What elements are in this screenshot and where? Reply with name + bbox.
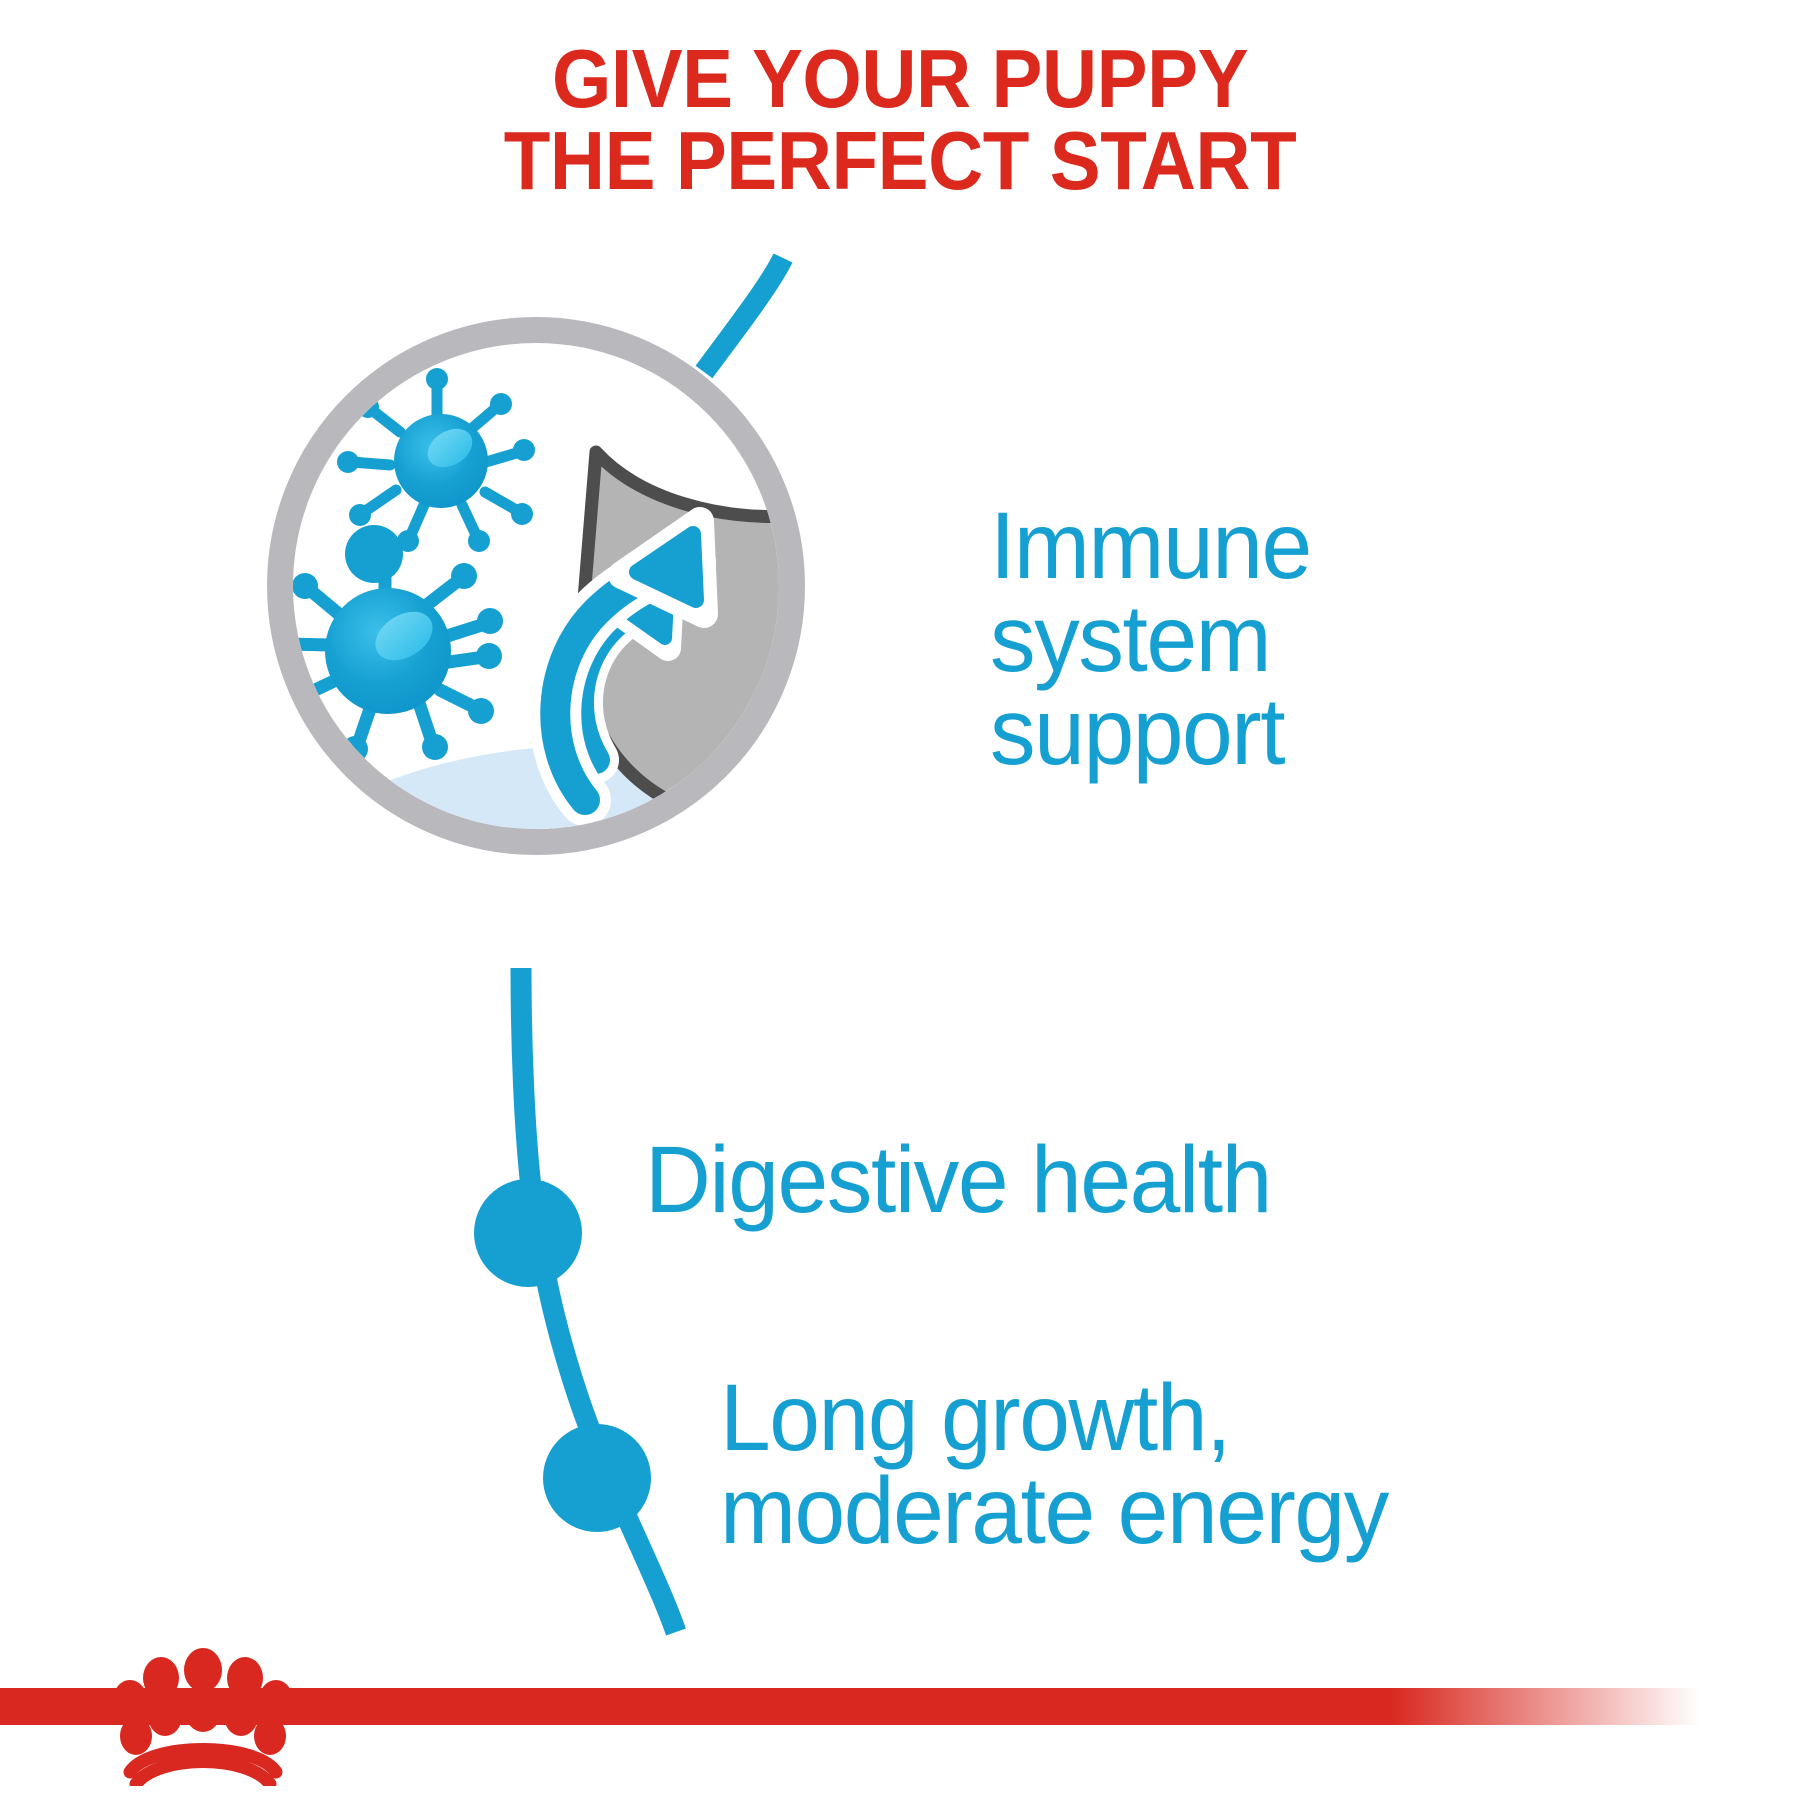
crown-dots [113,1648,293,1755]
connector-segment-3 [625,1513,676,1632]
node-dot-growth[interactable] [543,1424,651,1532]
crown-arcs [130,1750,276,1785]
connector-segment-1 [521,968,532,1196]
poster-canvas: GIVE YOUR PUPPY THE PERFECT START [0,0,1800,1800]
benefit-label-immune: Immune system support [990,500,1311,779]
royal-canin-crown-logo [108,1648,298,1786]
connector-segment-2 [545,1272,594,1440]
benefit-label-digestive: Digestive health [645,1132,1271,1229]
immune-shield-icon[interactable] [270,330,930,1055]
benefit-label-growth: Long growth, moderate energy [720,1372,1388,1558]
connector-top-tail [704,258,783,372]
node-dot-digestive[interactable] [474,1179,582,1287]
